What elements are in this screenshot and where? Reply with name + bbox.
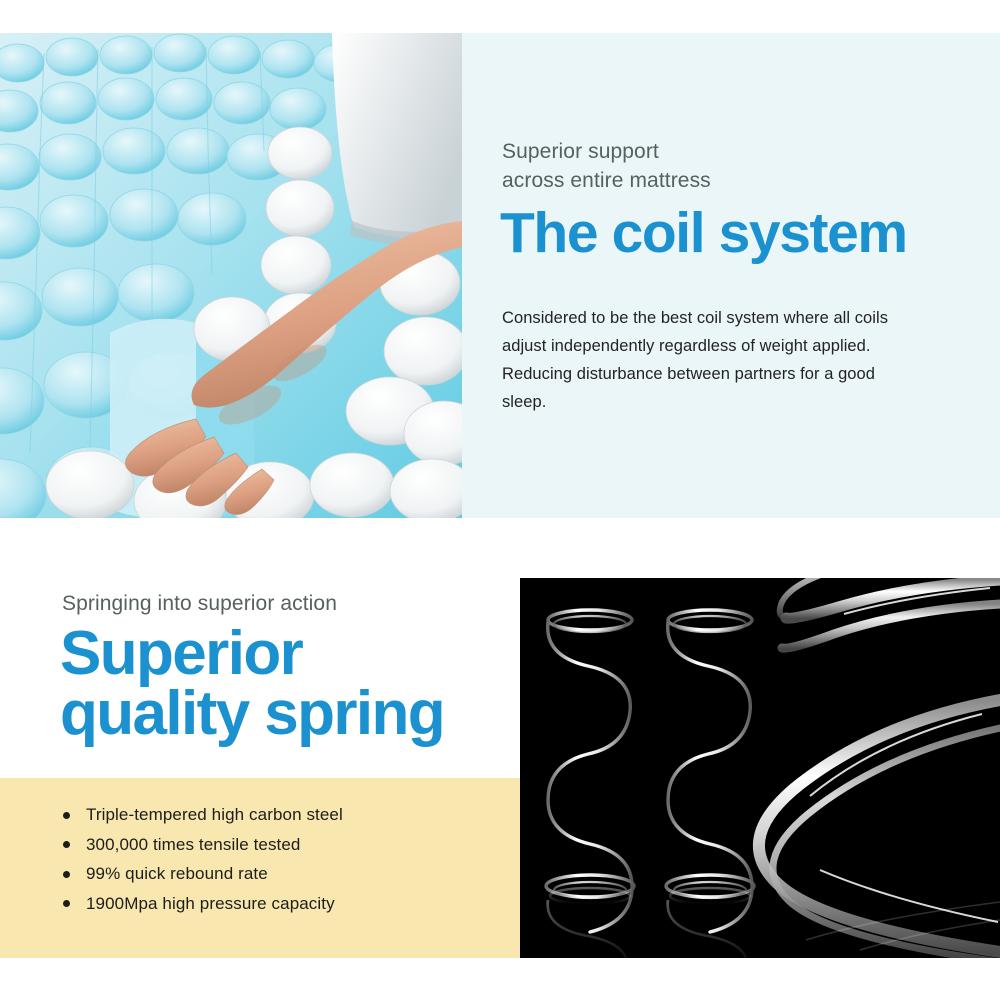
coil-system-section: Superior support across entire mattress … [0,33,1000,518]
superior-spring-section: Springing into superior action Superior … [0,518,1000,958]
spring-eyebrow: Springing into superior action [62,590,337,618]
list-item: 99% quick rebound rate [60,859,343,889]
list-item: 1900Mpa high pressure capacity [60,889,343,919]
coil-springs-photo [520,578,1000,958]
spring-headline: Superior quality spring [60,624,444,744]
coil-photo-artwork [0,33,462,518]
coil-body-text: Considered to be the best coil system wh… [502,304,902,416]
list-item: 300,000 times tensile tested [60,830,343,860]
spring-feature-list: Triple-tempered high carbon steel 300,00… [60,800,343,918]
list-item: Triple-tempered high carbon steel [60,800,343,830]
coil-headline: The coil system [500,202,907,264]
pocket-spring-photo [0,33,462,518]
spring-features-panel: Triple-tempered high carbon steel 300,00… [0,778,520,958]
coil-eyebrow: Superior support across entire mattress [502,137,711,195]
coil-text-panel: Superior support across entire mattress … [462,33,1000,518]
